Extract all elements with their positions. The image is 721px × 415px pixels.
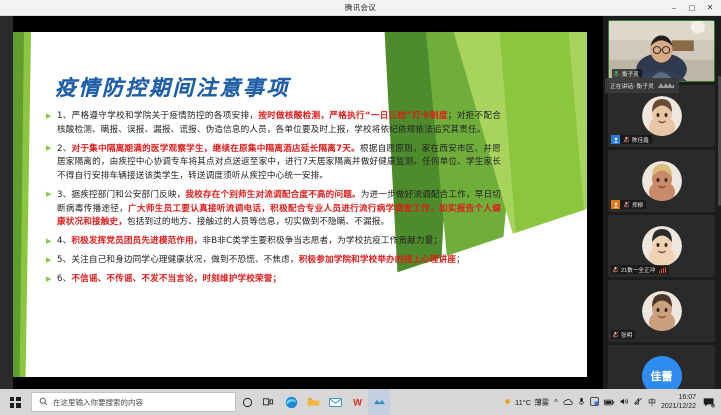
tray-microphone-icon[interactable] [578, 393, 585, 411]
slide-bullet-item: ▶1、严格遵守学校和学院关于疫情防控的各项安排，按时做核酸检测，严格执行“一日三… [46, 110, 501, 137]
search-input-placeholder[interactable]: 在这里输入你要搜索的内容 [53, 397, 143, 408]
taskbar-clock[interactable]: 16:07 2021/12/22 [661, 393, 696, 412]
bullet-index: 6、 [57, 274, 71, 284]
clock-time: 16:07 [678, 393, 696, 403]
normal-text: 据疾控部门和公安部门反映， [71, 190, 185, 200]
speaking-tooltip: 正在讲话: 衡子灵 [605, 78, 679, 93]
window-title: 腾讯会议 [345, 2, 376, 13]
bullet-triangle-icon: ▶ [46, 254, 57, 264]
bullet-index: 1、 [57, 111, 72, 121]
microphone-unmuted-icon [612, 69, 620, 78]
tray-network-icon[interactable] [634, 393, 643, 411]
slide-bullet-text: 4、积极发挥党员团员先进模范作用，非B非C类学生要积极争当志愿者，为学校抗疫工作… [57, 235, 501, 249]
participant-rail[interactable]: 衡子灵正在讲话: 衡子灵陈佳鑫郑柳21数一全正冲张明佳蕾21数一4刘佳蕾 [603, 16, 721, 399]
slide-bullet-text: 6、不信谣、不传谣、不发不当言论，时刻维护学校荣誉； [57, 273, 501, 287]
meeting-window-body: 疫情防控期间注意事项 ▶1、严格遵守学校和学院关于疫情防控的各项安排，按时做核酸… [0, 16, 721, 399]
network-signal-icon [659, 267, 666, 273]
slide-title: 疫情防控期间注意事项 [55, 72, 290, 102]
normal-text: 关注自己和身边同学心理健康状况，做到不恐慌、不焦虑， [71, 255, 298, 265]
bullet-triangle-icon: ▶ [46, 143, 57, 153]
normal-text: ； [456, 255, 465, 265]
emphasized-text: 按时做核酸检测，严格执行“一日三检”打卡制度 [258, 111, 448, 121]
normal-text: 严格遵守学校和学院关于疫情防控的各项安排， [72, 111, 259, 121]
minimize-button[interactable]: – [665, 0, 683, 16]
notification-center-icon[interactable]: 4 [701, 389, 717, 415]
participant-nametag: 陈佳鑫 [611, 135, 652, 144]
bullet-triangle-icon: ▶ [46, 235, 57, 245]
audio-wave-icon [658, 82, 674, 89]
normal-text: 包括到过的地方、接触过的人员等信息，切实做到不隐瞒、不漏报。 [127, 217, 389, 227]
shared-slide: 疫情防控期间注意事项 ▶1、严格遵守学校和学院关于疫情防控的各项安排，按时做核酸… [13, 32, 587, 377]
bullet-index: 3、 [57, 190, 71, 200]
microphone-muted-icon [622, 135, 630, 144]
cohost-badge-icon [611, 200, 620, 209]
weather-temperature: 11°C [515, 398, 531, 407]
emphasized-text: 不信谣、不传谣、不发不当言论，时刻维护学校荣誉； [71, 274, 281, 284]
participant-tile[interactable]: 张明 [608, 280, 715, 342]
participant-name: 21数一全正冲 [621, 266, 656, 274]
tencent-meeting-taskbar-icon[interactable] [368, 389, 390, 415]
clock-date: 2021/12/22 [661, 402, 696, 412]
emphasized-text: 积极发挥党员团员先进模范作用， [71, 236, 202, 246]
bullet-index: 5、 [57, 255, 71, 265]
participant-nametag: 21数一全正冲 [611, 265, 668, 274]
slide-bullet-item: ▶5、关注自己和身边同学心理健康状况，做到不恐慌、不焦虑，积极参加学院和学校举办… [46, 254, 501, 268]
cortana-icon[interactable] [236, 389, 258, 415]
participant-nametag: 衡子灵 [612, 69, 642, 78]
file-explorer-icon[interactable] [302, 389, 324, 415]
window-controls: – ▢ ✕ [665, 0, 719, 16]
mail-icon[interactable] [324, 389, 346, 415]
bullet-triangle-icon: ▶ [46, 110, 57, 120]
edge-browser-icon[interactable] [280, 389, 302, 415]
wps-office-icon[interactable]: W [346, 389, 368, 415]
windows-logo-icon [10, 397, 21, 408]
participant-avatar [642, 226, 682, 266]
participant-tile[interactable]: 衡子灵 [608, 20, 715, 82]
participant-nametag: 张明 [611, 330, 635, 339]
system-tray: 11°C 薄雾 ^ 中 16:07 2021/12/22 4 [503, 389, 721, 415]
tray-volume-icon[interactable] [620, 393, 629, 411]
svg-text:W: W [353, 398, 362, 408]
close-button[interactable]: ✕ [701, 0, 719, 16]
slide-bullet-item: ▶4、积极发挥党员团员先进模范作用，非B非C类学生要积极争当志愿者，为学校抗疫工… [46, 235, 501, 249]
weather-sun-icon [503, 397, 512, 408]
window-titlebar: 腾讯会议 – ▢ ✕ [0, 0, 721, 16]
speaking-tooltip-label: 正在讲话: 衡子灵 [610, 81, 654, 90]
slide-bullet-text: 1、严格遵守学校和学院关于疫情防控的各项安排，按时做核酸检测，严格执行“一日三检… [57, 110, 501, 137]
onedrive-icon[interactable] [563, 393, 573, 411]
task-view-icon[interactable] [258, 389, 280, 415]
microphone-muted-icon [622, 200, 630, 209]
bullet-triangle-icon: ▶ [46, 189, 57, 199]
search-icon [39, 393, 48, 411]
weather-description: 薄雾 [534, 397, 549, 408]
windows-taskbar: 在这里输入你要搜索的内容 W 11°C 薄雾 ^ [0, 389, 721, 415]
tray-screenshot-icon[interactable] [590, 393, 599, 411]
participant-tile[interactable]: 21数一全正冲 [608, 215, 715, 277]
participant-rail-scrollbar[interactable] [718, 76, 721, 206]
microphone-muted-icon [611, 265, 619, 274]
taskbar-search-box[interactable]: 在这里输入你要搜索的内容 [31, 392, 236, 412]
tray-expand-chevron-icon[interactable]: ^ [554, 398, 558, 407]
bullet-index: 2、 [57, 144, 72, 154]
host-badge-icon [611, 135, 620, 144]
emphasized-text: 积极参加学院和学校举办的线上心理讲座 [299, 255, 456, 265]
weather-widget[interactable]: 11°C 薄雾 [503, 397, 549, 408]
slide-bullet-item: ▶2、对于集中隔离期满的医学观察学生，继续在原集中隔离酒店延长隔离7天。根据自愿… [46, 143, 501, 184]
participant-name: 郑柳 [632, 201, 644, 209]
bullet-triangle-icon: ▶ [46, 273, 57, 283]
slide-bullet-item: ▶6、不信谣、不传谣、不发不当言论，时刻维护学校荣誉； [46, 273, 501, 287]
participant-avatar [642, 291, 682, 331]
microphone-muted-icon [611, 330, 619, 339]
participant-nametag: 郑柳 [611, 200, 646, 209]
slide-bullet-text: 3、据疾控部门和公安部门反映，我校存在个别师生对流调配合度不高的问题。为进一步做… [57, 189, 501, 230]
emphasized-text: 我校存在个别师生对流调配合度不高的问题。 [185, 190, 360, 200]
emphasized-text: 对于集中隔离期满的医学观察学生，继续在原集中隔离酒店延长隔离7天。 [72, 144, 360, 154]
shared-screen-stage[interactable]: 疫情防控期间注意事项 ▶1、严格遵守学校和学院关于疫情防控的各项安排，按时做核酸… [0, 16, 603, 399]
participant-tile[interactable]: 陈佳鑫 [608, 85, 715, 147]
start-button[interactable] [0, 389, 30, 415]
normal-text: 非B非C类学生要积极争当志愿者，为学校抗疫工作贡献力量； [203, 236, 443, 246]
participant-name: 衡子灵 [622, 70, 640, 78]
ime-indicator[interactable]: 中 [648, 397, 656, 408]
participant-avatar [642, 161, 682, 201]
participant-tile[interactable]: 郑柳 [608, 150, 715, 212]
slide-bullet-text: 5、关注自己和身边同学心理健康状况，做到不恐慌、不焦虑，积极参加学院和学校举办的… [57, 254, 501, 268]
tray-battery-icon[interactable] [604, 393, 615, 411]
bullet-index: 4、 [57, 236, 71, 246]
slide-bullet-text: 2、对于集中隔离期满的医学观察学生，继续在原集中隔离酒店延长隔离7天。根据自愿原… [57, 143, 501, 184]
slide-bullet-item: ▶3、据疾控部门和公安部门反映，我校存在个别师生对流调配合度不高的问题。为进一步… [46, 189, 501, 230]
participant-avatar [642, 96, 682, 136]
maximize-button[interactable]: ▢ [683, 0, 701, 16]
slide-bullet-list: ▶1、严格遵守学校和学院关于疫情防控的各项安排，按时做核酸检测，严格执行“一日三… [46, 110, 501, 293]
participant-name: 陈佳鑫 [632, 136, 650, 144]
participant-name: 张明 [621, 331, 633, 339]
